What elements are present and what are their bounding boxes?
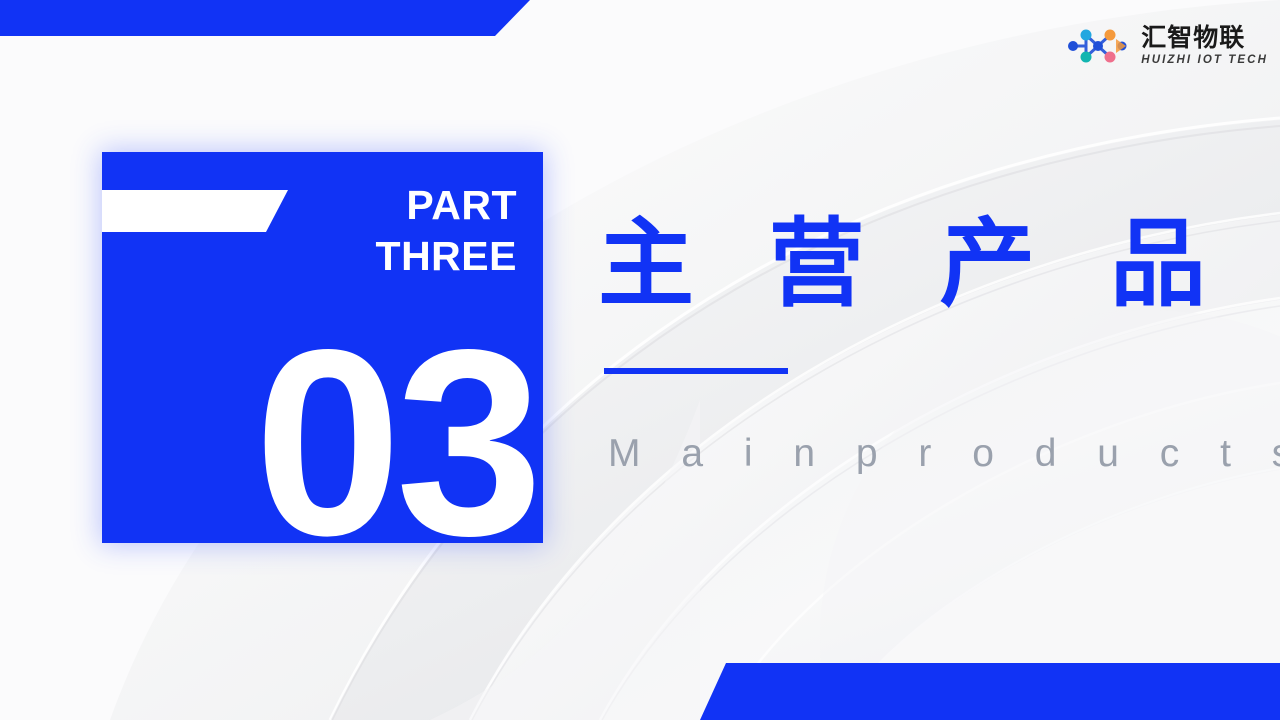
page-title: 主 营 产 品 [598,213,1230,317]
part-label: PART THREE [287,180,517,282]
company-logo: 汇智物联 HUIZHI IOT TECH [1060,24,1268,68]
section-number-card: PART THREE 03 [102,152,543,543]
white-slab-decoration [102,190,288,232]
top-left-accent-bar [0,0,530,36]
molecule-network-icon [1060,24,1134,68]
logo-name-en: HUIZHI IOT TECH [1141,55,1268,67]
page-subtitle: M a i n p r o d u c t s [608,432,1280,476]
logo-name-cn: 汇智物联 [1141,25,1268,50]
part-label-line2: THREE [287,231,517,282]
logo-text-block: 汇智物联 HUIZHI IOT TECH [1141,25,1268,67]
section-number: 03 [102,322,537,566]
title-underline [604,368,788,374]
bottom-right-accent-bar [700,663,1280,720]
slide-canvas: PART THREE 03 主 营 产 品 M a i n p r o d u … [0,0,1280,720]
part-label-line1: PART [406,182,517,228]
